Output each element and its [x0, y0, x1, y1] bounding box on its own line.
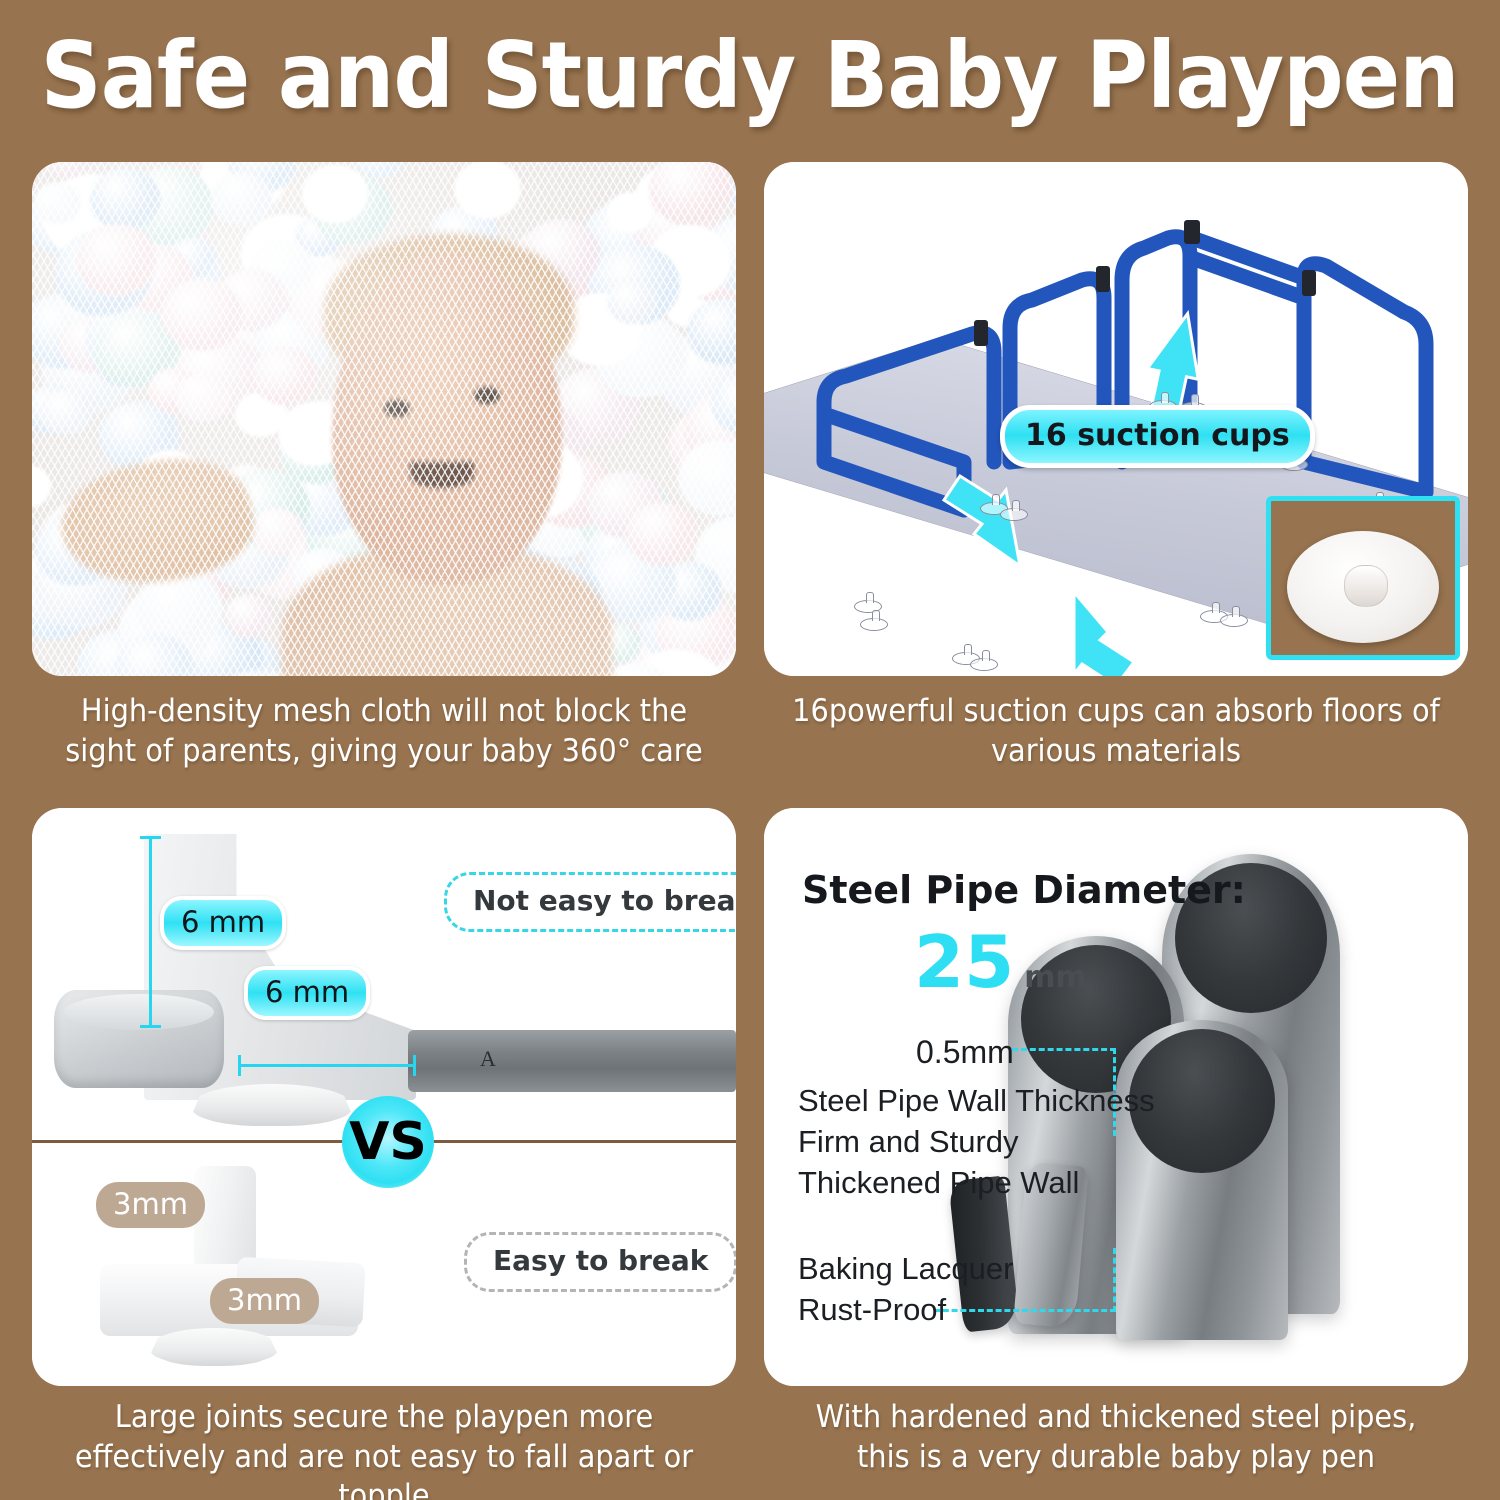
tag-easy-to-break: Easy to break — [464, 1232, 736, 1292]
page-title: Safe and Sturdy Baby Playpen — [41, 22, 1459, 129]
arrow-up-1 — [1074, 592, 1134, 676]
panel-steel-pipes: Steel Pipe Diameter: 25 mm 0.5mm Steel P… — [764, 808, 1468, 1386]
title-bar: Safe and Sturdy Baby Playpen — [0, 0, 1500, 150]
suction-cup-knob — [1344, 565, 1388, 607]
wall-thickness-value: 0.5mm — [916, 1034, 1014, 1071]
vs-badge: VS — [342, 1096, 434, 1188]
small-dimension-badge-horizontal: 3mm — [210, 1278, 319, 1324]
panel-joint-comparison: A 6 mm 6 mm Not easy to break VS 3mm 3mm… — [32, 808, 736, 1386]
caption-mesh: High-density mesh cloth will not block t… — [57, 692, 712, 771]
joint-scene: A 6 mm 6 mm Not easy to break VS 3mm 3mm… — [32, 808, 736, 1386]
steel-pipe-heading: Steel Pipe Diameter: — [802, 868, 1246, 912]
suction-cup-inset — [1266, 496, 1460, 660]
steel-pipe-segment — [408, 1030, 736, 1092]
small-dimension-badge-vertical: 3mm — [96, 1182, 205, 1228]
tag-not-easy-to-break: Not easy to break — [444, 872, 736, 932]
spec-lines: Steel Pipe Wall ThicknessFirm and Sturdy… — [798, 1080, 1155, 1204]
steel-pipe-scene: Steel Pipe Diameter: 25 mm 0.5mm Steel P… — [764, 808, 1468, 1386]
small-joint-suction-cup — [150, 1328, 278, 1366]
playpen-3d-scene: 16 suction cups — [764, 162, 1468, 676]
panel-suction-diagram: 16 suction cups — [764, 162, 1468, 676]
suction-cup — [970, 658, 998, 671]
suction-cup — [1220, 614, 1248, 627]
suction-cups-badge: 16 suction cups — [1000, 405, 1315, 468]
infographic-page: Safe and Sturdy Baby Playpen High-densit… — [0, 0, 1500, 1500]
mesh-fabric-overlay — [32, 162, 736, 676]
dimension-line-vertical — [149, 836, 152, 1028]
large-joint-suction-cup — [192, 1084, 352, 1126]
diameter-value: 25 — [914, 926, 1014, 998]
pipe-marking-a: A — [480, 1046, 496, 1072]
caption-joints: Large joints secure the playpen more eff… — [57, 1398, 712, 1500]
mesh-scene — [32, 162, 736, 676]
diameter-readout: 25 mm — [914, 926, 1087, 998]
diameter-unit: mm — [1024, 960, 1087, 995]
suction-cup — [1000, 508, 1028, 521]
suction-cup — [860, 618, 888, 631]
dimension-line-horizontal — [238, 1064, 416, 1067]
dimension-badge-horizontal: 6 mm — [244, 966, 370, 1020]
suction-cup-disc — [1287, 531, 1439, 643]
arrow-left-1 — [944, 476, 1020, 566]
caption-suction: 16powerful suction cups can absorb floor… — [789, 692, 1444, 771]
panel-mesh-photo — [32, 162, 736, 676]
large-joint-cap — [54, 990, 224, 1088]
dimension-badge-vertical: 6 mm — [160, 896, 286, 950]
finish-lines: Baking LacquerRust-Proof — [798, 1248, 1013, 1330]
caption-pipes: With hardened and thickened steel pipes,… — [789, 1398, 1444, 1477]
